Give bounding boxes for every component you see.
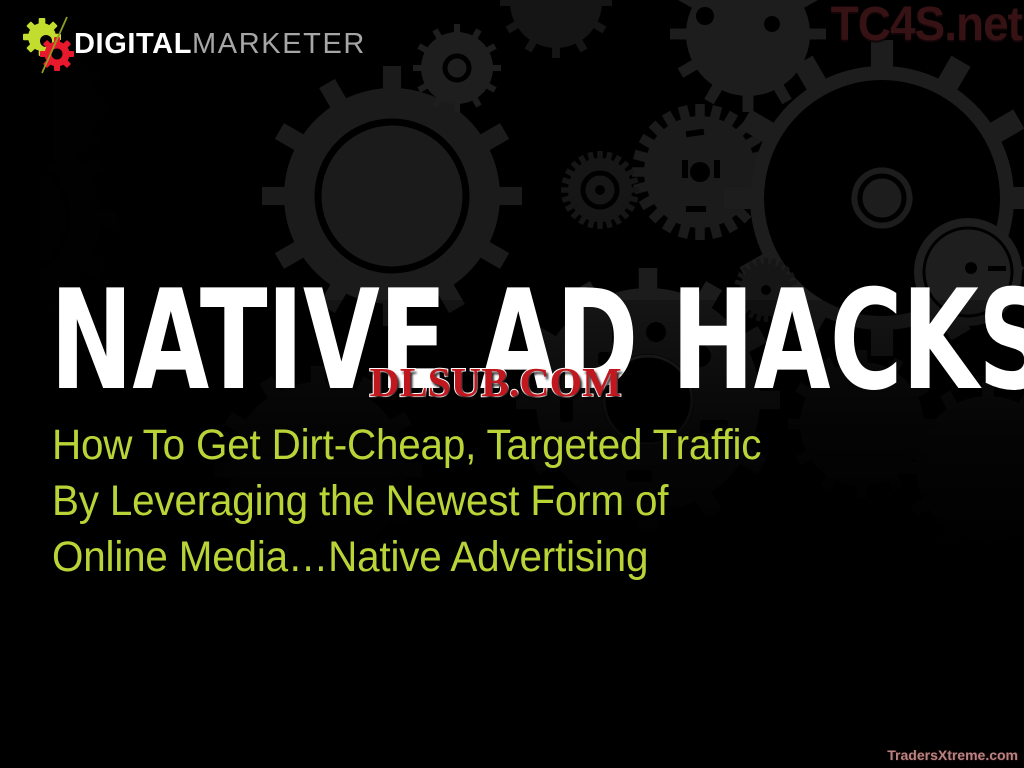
logo-wordmark: DIGITALMARKETER [74, 30, 366, 61]
interlocking-gears-logo-icon [22, 16, 78, 74]
logo-word-bold: DIGITAL [74, 28, 192, 60]
subtitle-line-2: By Leveraging the Newest Form of [52, 474, 832, 530]
watermark-center: DLSUB.COM [370, 358, 622, 406]
subtitle-line-1: How To Get Dirt-Cheap, Targeted Traffic [52, 418, 832, 474]
watermark-bottom-right: TradersXtreme.com [887, 747, 1018, 763]
presentation-slide: TC4S.net [0, 0, 1024, 768]
watermark-top-right: TC4S.net [831, 0, 1022, 51]
subtitle-line-3: Online Media…Native Advertising [52, 530, 832, 586]
slide-subtitle: How To Get Dirt-Cheap, Targeted Traffic … [52, 418, 832, 586]
logo-word-light: MARKETER [192, 28, 366, 60]
digital-marketer-logo: DIGITALMARKETER [22, 12, 362, 78]
